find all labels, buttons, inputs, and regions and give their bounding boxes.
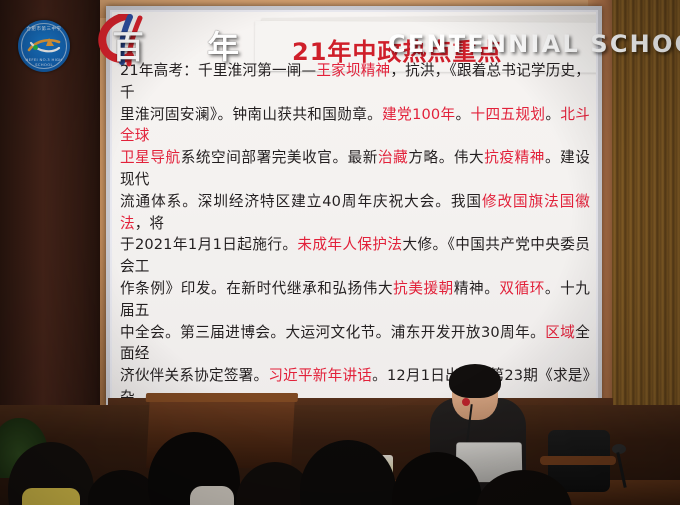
slide-text-run: 中全会。第三届进博会。大运河文化节。浦东开发开放30周年。	[120, 324, 545, 341]
slide-text-line: 于2021年1月1日起施行。未成年人保护法大修。《中国共产党中央委员会工	[120, 234, 590, 278]
slide-text-run: 作条例》印发。在新时代继承和弘扬伟大	[120, 280, 393, 297]
slide-text-highlight: 十四五规划	[470, 106, 545, 123]
slide-text-run: 方略。伟大	[408, 149, 484, 166]
slide-text-run: 于2021年1月1日起施行。	[120, 236, 297, 253]
slide-text-highlight: 双循环	[499, 280, 545, 297]
slide-text-line: 作条例》印发。在新时代继承和弘扬伟大抗美援朝精神。双循环。十九届五	[120, 278, 590, 322]
slide-text-run: 流通体系。深圳经济特区建立40周年庆祝大会。我国	[120, 193, 482, 210]
slide-text-run: 里淮河固安澜》。钟南山获共和国勋章。	[120, 106, 382, 123]
slide-text-run: 。	[545, 106, 560, 123]
slide-text-run: 济伙伴关系协定签署。	[120, 367, 268, 384]
slide-text-run: ，将	[135, 215, 164, 232]
slide-text-highlight: 未成年人保护法	[297, 236, 402, 253]
chair-armrest	[540, 456, 616, 465]
audience-shirt	[22, 488, 80, 505]
slide-text-highlight: 抗疫精神	[484, 149, 545, 166]
slide-text-run: 21年高考：千里淮河第一闸—	[120, 62, 316, 79]
slide-text-highlight: 区域	[545, 324, 575, 341]
slide-text-highlight: 习近平新年讲话	[268, 367, 372, 384]
slide-text-highlight: 建党100年	[382, 106, 455, 123]
presenter-hair	[449, 364, 501, 398]
slide-text-line: 流通体系。深圳经济特区建立40周年庆祝大会。我国修改国旗法国徽法，将	[120, 191, 590, 235]
slide-text-line: 中全会。第三届进博会。大运河文化节。浦东开发开放30周年。区域全面经	[120, 322, 590, 366]
slide-text-line: 卫星导航系统空间部署完美收官。最新治藏方略。伟大抗疫精神。建设现代	[120, 147, 590, 191]
slide-text-highlight: 治藏	[378, 149, 408, 166]
slide-text-line: 21年高考：千里淮河第一闸—王家坝精神，抗洪，《跟着总书记学历史，千	[120, 60, 590, 104]
slide-text-run: 。	[456, 106, 471, 123]
slide-text-highlight: 王家坝精神	[316, 62, 390, 79]
slide-text-run: 精神。	[454, 280, 500, 297]
podium-top	[146, 393, 298, 402]
audience-shirt	[190, 486, 234, 505]
presentation-slide: 21年中政热点重点 21年高考：千里淮河第一闸—王家坝精神，抗洪，《跟着总书记学…	[112, 12, 596, 400]
slide-text-highlight: 抗美援朝	[393, 280, 454, 297]
screenshot-stage: 21年中政热点重点 21年高考：千里淮河第一闸—王家坝精神，抗洪，《跟着总书记学…	[0, 0, 680, 505]
slide-text-run: 系统空间部署完美收官。最新	[181, 149, 378, 166]
slide-body-text: 21年高考：千里淮河第一闸—王家坝精神，抗洪，《跟着总书记学历史，千里淮河固安澜…	[120, 60, 590, 400]
slide-text-highlight: 卫星导航	[120, 149, 181, 166]
presenter-microphone-head	[462, 398, 470, 406]
slide-text-line: 里淮河固安澜》。钟南山获共和国勋章。建党100年。十四五规划。北斗全球	[120, 104, 590, 148]
